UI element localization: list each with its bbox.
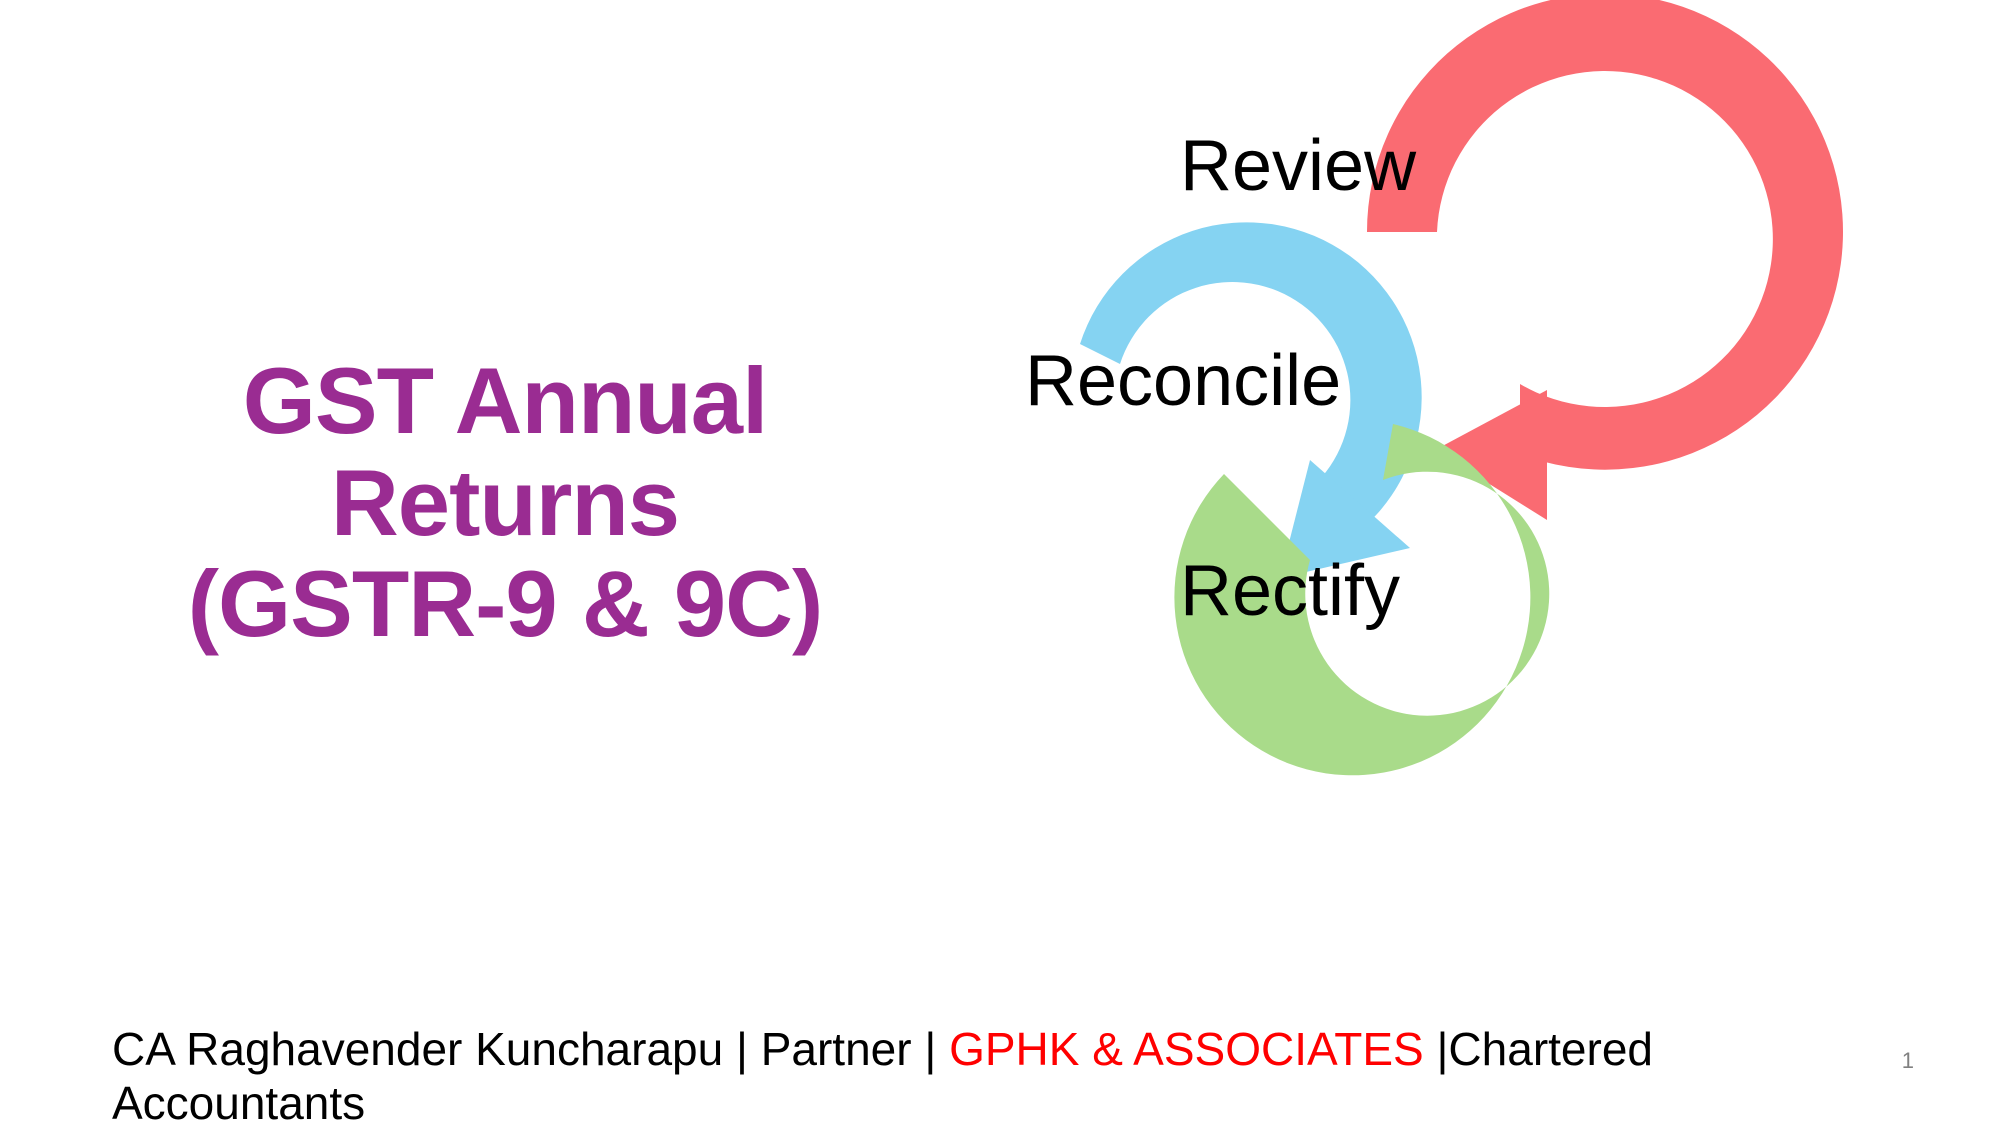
- cycle-label-reconcile: Reconcile: [1025, 345, 1341, 417]
- title-line-3: (GSTR-9 & 9C): [110, 553, 900, 655]
- footer-qualification: |Chartered: [1424, 1023, 1653, 1075]
- footer-firm-name: GPHK & ASSOCIATES: [949, 1023, 1424, 1075]
- cycle-diagram-svg: [980, 0, 1990, 1000]
- title-line-1: GST Annual: [110, 350, 900, 452]
- footer-credit: CA Raghavender Kuncharapu | Partner | GP…: [112, 1022, 1832, 1125]
- page-number: 1: [1902, 1048, 1914, 1074]
- slide-canvas: GST Annual Returns (GSTR-9 & 9C): [0, 0, 2000, 1125]
- cycle-diagram: Review Reconcile Rectify: [980, 0, 1990, 1000]
- cycle-label-review: Review: [1180, 130, 1416, 202]
- title-line-2: Returns: [110, 452, 900, 554]
- page-title: GST Annual Returns (GSTR-9 & 9C): [110, 350, 900, 655]
- footer-qualification-cont: Accountants: [112, 1077, 365, 1125]
- footer-author: CA Raghavender Kuncharapu | Partner |: [112, 1023, 949, 1075]
- cycle-label-rectify: Rectify: [1180, 555, 1400, 627]
